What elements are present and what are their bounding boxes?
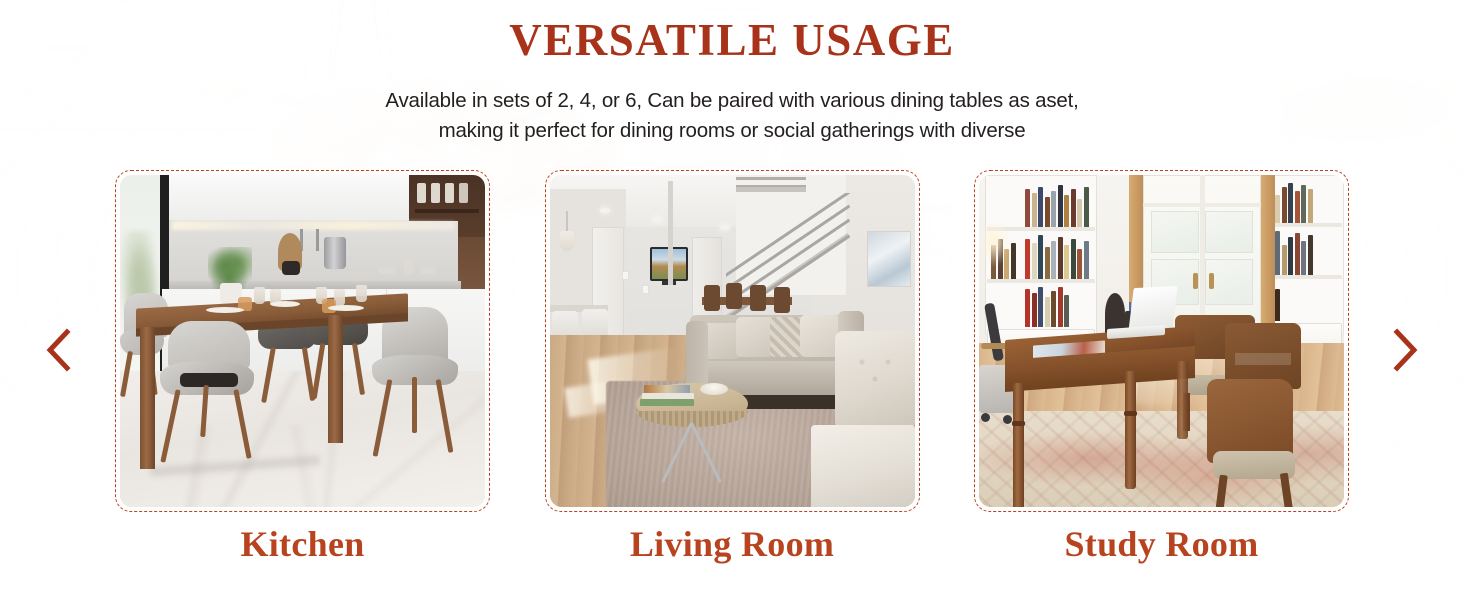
carousel-slides bbox=[115, 170, 1349, 512]
carousel-next-button[interactable] bbox=[1382, 324, 1428, 376]
page-subtitle: Available in sets of 2, 4, or 6, Can be … bbox=[272, 86, 1192, 146]
carousel-slide-living-room[interactable] bbox=[545, 170, 920, 512]
wooden-armchair bbox=[1207, 323, 1301, 507]
study-room-photo bbox=[979, 175, 1344, 507]
living-room-photo bbox=[550, 175, 915, 507]
chevron-left-icon bbox=[44, 327, 74, 373]
caption-living-room: Living Room bbox=[545, 526, 920, 586]
caption-kitchen: Kitchen bbox=[115, 526, 490, 586]
page-title: VERSATILE USAGE bbox=[0, 16, 1464, 66]
wall-art bbox=[867, 231, 911, 287]
chevron-right-icon bbox=[1390, 327, 1420, 373]
caption-study-room: Study Room bbox=[974, 526, 1349, 586]
subtitle-line-1: Available in sets of 2, 4, or 6, Can be … bbox=[272, 86, 1192, 116]
carousel-slide-kitchen[interactable] bbox=[115, 170, 490, 512]
carousel-slide-study-room[interactable] bbox=[974, 170, 1349, 512]
ottoman bbox=[811, 425, 915, 507]
subtitle-line-2: making it perfect for dining rooms or so… bbox=[272, 116, 1192, 146]
carousel-prev-button[interactable] bbox=[36, 324, 82, 376]
promo-banner: VERSATILE USAGE Available in sets of 2, … bbox=[0, 0, 1464, 600]
slide-captions: Kitchen Living Room Study Room bbox=[115, 526, 1349, 586]
kitchen-photo bbox=[120, 175, 485, 507]
